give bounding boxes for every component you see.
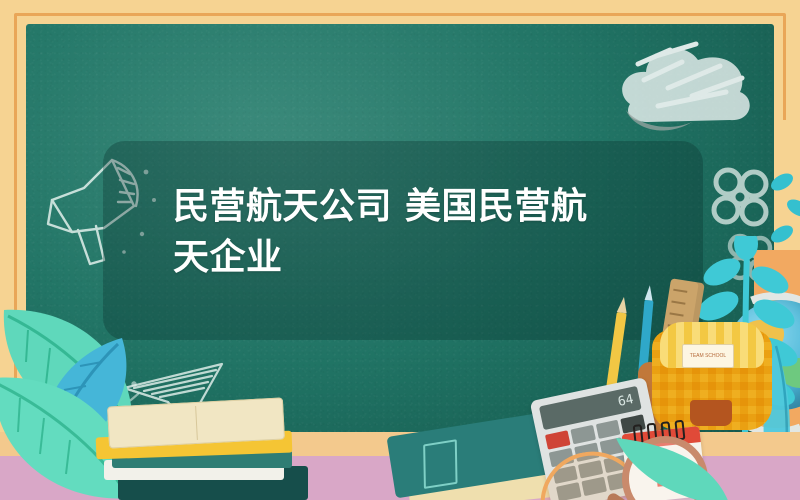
calculator-key (570, 425, 595, 444)
thumbnail-canvas: 民营航天公司 美国民营航 天企业 (0, 0, 800, 500)
leaf-foreground-icon (612, 418, 732, 500)
page-title-line-1: 民营航天公司 美国民营航 (173, 181, 673, 232)
page-title-line-2: 天企业 (173, 232, 673, 283)
page-title: 民营航天公司 美国民营航 天企业 (173, 181, 673, 283)
leaf-sprig-icon (770, 160, 800, 280)
calculator-key (545, 430, 570, 449)
backpack-label: TEAM SCHOOL (682, 344, 734, 368)
